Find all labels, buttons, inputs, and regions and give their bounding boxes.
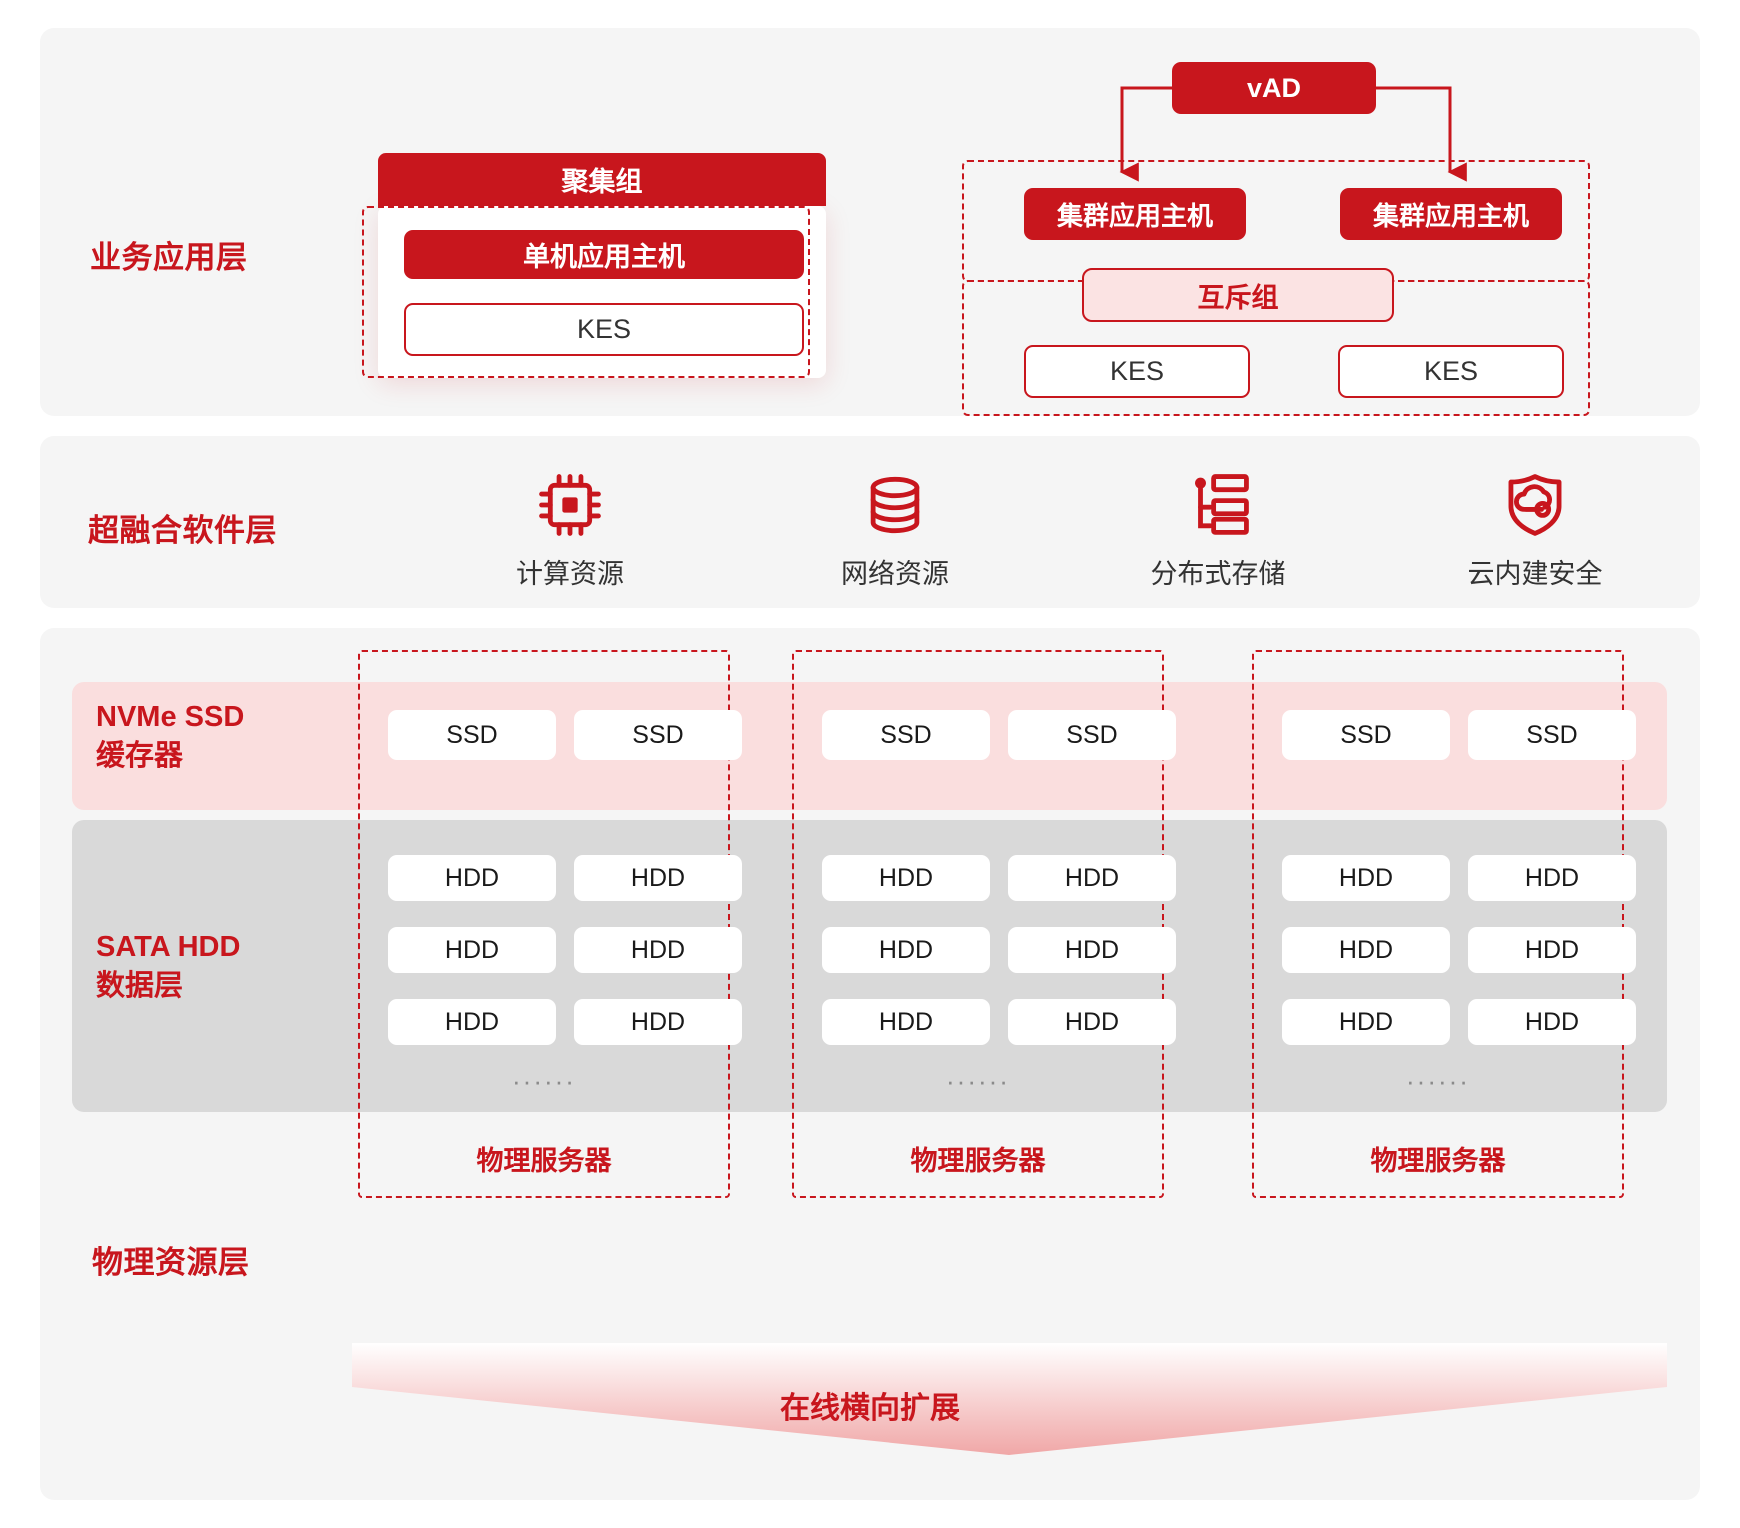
hci-item-storage: 分布式存储 — [1118, 466, 1318, 591]
hdd-disk: HDD — [1008, 855, 1176, 901]
hdd-disk: HDD — [388, 999, 556, 1045]
ssd-disk: SSD — [1468, 710, 1636, 760]
hdd-disk: HDD — [1468, 855, 1636, 901]
hdd-disk: HDD — [388, 927, 556, 973]
aggregate-group-title: 聚集组 — [378, 153, 826, 206]
hdd-tier-label-line1: SATA HDD — [96, 931, 240, 963]
ssd-tier-label: NVMe SSD 缓存器 — [96, 698, 346, 776]
ssd-tier-label-line1: NVMe SSD — [96, 701, 244, 733]
hci-item-label: 网络资源 — [795, 552, 995, 591]
cluster-kes-database-1: KES — [1024, 345, 1250, 398]
physical-server-column: SSD SSD HDD HDD HDD HDD HDD HDD ······ 物… — [792, 650, 1164, 1198]
more-disks-ellipsis: ······ — [794, 1066, 1162, 1097]
hdd-disk: HDD — [822, 999, 990, 1045]
business-layer-label: 业务应用层 — [90, 232, 248, 277]
ssd-disk: SSD — [574, 710, 742, 760]
cluster-kes-database-2: KES — [1338, 345, 1564, 398]
database-cylinder-icon — [795, 466, 995, 544]
hdd-tier-label-line2: 数据层 — [96, 970, 183, 1002]
physical-server-column: SSD SSD HDD HDD HDD HDD HDD HDD ······ 物… — [1252, 650, 1624, 1198]
hci-item-label: 计算资源 — [470, 552, 670, 591]
physical-server-name: 物理服务器 — [360, 1139, 728, 1178]
physical-server-name: 物理服务器 — [1254, 1139, 1622, 1178]
physical-layer-label: 物理资源层 — [92, 1237, 250, 1282]
hci-item-label: 分布式存储 — [1118, 552, 1318, 591]
hdd-disk: HDD — [1008, 927, 1176, 973]
cluster-application-host-2: 集群应用主机 — [1340, 188, 1562, 240]
distributed-tree-icon — [1118, 466, 1318, 544]
hci-layer-label: 超融合软件层 — [88, 505, 277, 550]
hdd-disk: HDD — [1008, 999, 1176, 1045]
mutex-group-box: 互斥组 — [1082, 268, 1394, 322]
hdd-disk: HDD — [1468, 999, 1636, 1045]
more-disks-ellipsis: ······ — [360, 1066, 728, 1097]
cluster-application-host-1: 集群应用主机 — [1024, 188, 1246, 240]
hdd-disk: HDD — [574, 927, 742, 973]
scale-out-chevron — [352, 1343, 1667, 1455]
ssd-disk: SSD — [388, 710, 556, 760]
hdd-disk: HDD — [574, 999, 742, 1045]
hdd-disk: HDD — [822, 927, 990, 973]
ssd-tier-label-line2: 缓存器 — [96, 740, 183, 772]
ssd-disk: SSD — [1282, 710, 1450, 760]
cpu-chip-icon — [470, 466, 670, 544]
hci-item-security: 云内建安全 — [1435, 466, 1635, 591]
hci-item-label: 云内建安全 — [1435, 552, 1635, 591]
hdd-disk: HDD — [1282, 999, 1450, 1045]
vad-node: vAD — [1172, 62, 1376, 114]
shield-cloud-key-icon — [1435, 466, 1635, 544]
hci-item-network: 网络资源 — [795, 466, 995, 591]
standalone-application-host: 单机应用主机 — [404, 230, 804, 279]
standalone-kes-database: KES — [404, 303, 804, 356]
hdd-disk: HDD — [574, 855, 742, 901]
hdd-disk: HDD — [1282, 855, 1450, 901]
ssd-disk: SSD — [822, 710, 990, 760]
architecture-diagram: 业务应用层 超融合软件层 物理资源层 聚集组 单机应用主机 KES vAD 集群… — [0, 0, 1740, 1528]
hdd-disk: HDD — [388, 855, 556, 901]
hdd-tier-label: SATA HDD 数据层 — [96, 928, 346, 1006]
hdd-disk: HDD — [1282, 927, 1450, 973]
hdd-disk: HDD — [822, 855, 990, 901]
hdd-disk: HDD — [1468, 927, 1636, 973]
more-disks-ellipsis: ······ — [1254, 1066, 1622, 1097]
ssd-disk: SSD — [1008, 710, 1176, 760]
physical-server-column: SSD SSD HDD HDD HDD HDD HDD HDD ······ 物… — [358, 650, 730, 1198]
physical-server-name: 物理服务器 — [794, 1139, 1162, 1178]
hci-item-compute: 计算资源 — [470, 466, 670, 591]
